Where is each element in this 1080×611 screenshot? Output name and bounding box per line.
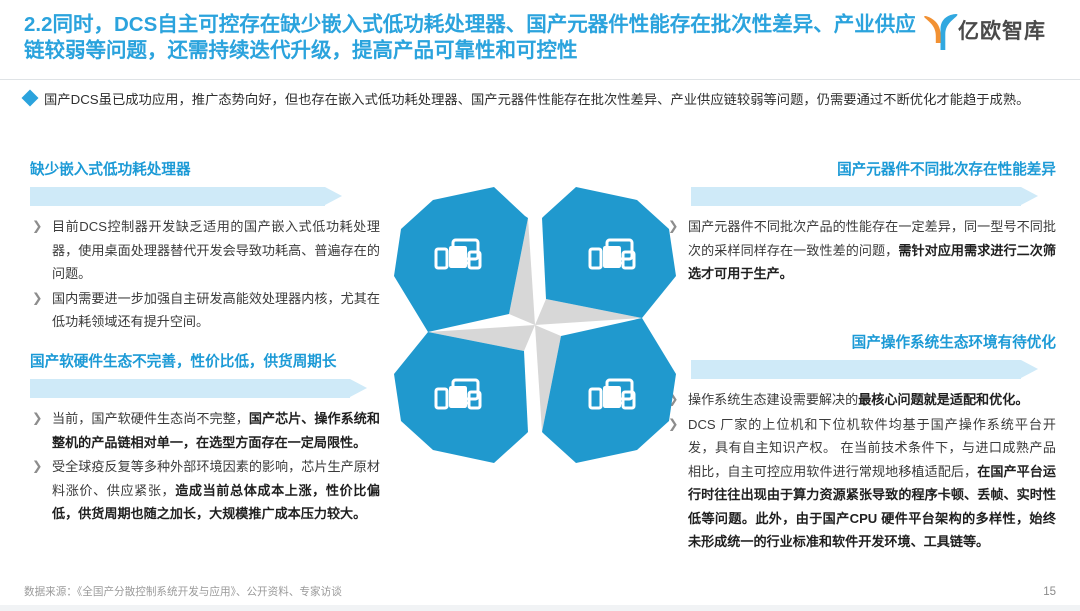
- page-number: 15: [1043, 585, 1056, 599]
- bullet-item: ❯当前，国产软硬件生态尚不完整，国产芯片、操作系统和整机的产品链相对单一，在选型…: [30, 407, 380, 454]
- header-divider: [0, 79, 1080, 80]
- bullet-item: ❯DCS 厂家的上位机和下位机软件均基于国产操作系统平台开发，具有自主知识产权。…: [666, 413, 1056, 554]
- section-heading: 国产操作系统生态环境有待优化: [666, 333, 1056, 353]
- section-heading: 国产元器件不同批次存在性能差异: [666, 160, 1056, 180]
- bullet-item: ❯国内需要进一步加强自主研发高能效处理器内核，尤其在低功耗领域还有提升空间。: [30, 287, 380, 334]
- chevron-bullet-icon: ❯: [32, 215, 42, 239]
- section-bottom-right: 国产操作系统生态环境有待优化 ❯操作系统生态建设需要解决的最核心问题就是适配和优…: [666, 333, 1056, 555]
- intro-text: 国产DCS虽已成功应用，推广态势向好，但也存在嵌入式低功耗处理器、国产元器件性能…: [44, 88, 1054, 111]
- bullet-text: 国内需要进一步加强自主研发高能效处理器内核，尤其在低功耗领域还有提升空间。: [52, 291, 380, 330]
- section-heading: 缺少嵌入式低功耗处理器: [30, 160, 380, 180]
- bullet-text: 目前DCS控制器开发缺乏适用的国产嵌入式低功耗处理器，使用桌面处理器替代开发会导…: [52, 219, 380, 281]
- section-top-left: 缺少嵌入式低功耗处理器 ❯目前DCS控制器开发缺乏适用的国产嵌入式低功耗处理器，…: [30, 160, 380, 335]
- page-title: 2.2同时，DCS自主可控存在缺少嵌入式低功耗处理器、国产元器件性能存在批次性差…: [24, 12, 924, 64]
- chevron-bullet-icon: ❯: [32, 287, 42, 311]
- bullet-text: 国产元器件不同批次产品的性能存在一定差异，同一型号不同批次的采样同样存在一致性差…: [688, 219, 1056, 281]
- slide-root: 2.2同时，DCS自主可控存在缺少嵌入式低功耗处理器、国产元器件性能存在批次性差…: [0, 0, 1080, 611]
- pinwheel-svg: [392, 182, 678, 468]
- bullet-list: ❯操作系统生态建设需要解决的最核心问题就是适配和优化。❯DCS 厂家的上位机和下…: [666, 388, 1056, 554]
- bullet-list: ❯当前，国产软硬件生态尚不完整，国产芯片、操作系统和整机的产品链相对单一，在选型…: [30, 407, 380, 526]
- bullet-item: ❯操作系统生态建设需要解决的最核心问题就是适配和优化。: [666, 388, 1056, 412]
- bullet-list: ❯国产元器件不同批次产品的性能存在一定差异，同一型号不同批次的采样同样存在一致性…: [666, 215, 1056, 286]
- arrow-bar: [666, 187, 1056, 206]
- section-heading: 国产软硬件生态不完善，性价比低，供货周期长: [30, 352, 380, 372]
- bullet-text: 受全球疫反复等多种外部环境因素的影响，芯片生产原材料涨价、供应紧张，造成当前总体…: [52, 459, 380, 521]
- footer-bar: [0, 605, 1080, 611]
- section-bottom-left: 国产软硬件生态不完善，性价比低，供货周期长 ❯当前，国产软硬件生态尚不完整，国产…: [30, 352, 380, 527]
- brand-logo: 亿欧智库: [924, 10, 1064, 56]
- pinwheel-diagram: [392, 182, 678, 468]
- chevron-bullet-icon: ❯: [32, 455, 42, 479]
- sprout-y-logo-icon: [924, 13, 958, 51]
- intro-paragraph: 国产DCS虽已成功应用，推广态势向好，但也存在嵌入式低功耗处理器、国产元器件性能…: [24, 88, 1054, 111]
- bullet-list: ❯目前DCS控制器开发缺乏适用的国产嵌入式低功耗处理器，使用桌面处理器替代开发会…: [30, 215, 380, 334]
- bullet-text: DCS 厂家的上位机和下位机软件均基于国产操作系统平台开发，具有自主知识产权。 …: [688, 417, 1056, 550]
- source-note: 数据来源：《全国产分散控制系统开发与应用》、公开资料、专家访谈: [24, 585, 342, 599]
- chevron-bullet-icon: ❯: [32, 407, 42, 431]
- arrow-bar: [666, 360, 1056, 379]
- diamond-bullet-icon: [22, 90, 39, 107]
- section-top-right: 国产元器件不同批次存在性能差异 ❯国产元器件不同批次产品的性能存在一定差异，同一…: [666, 160, 1056, 287]
- bullet-text: 操作系统生态建设需要解决的最核心问题就是适配和优化。: [688, 392, 1028, 407]
- arrow-bar: [30, 187, 380, 206]
- bullet-item: ❯目前DCS控制器开发缺乏适用的国产嵌入式低功耗处理器，使用桌面处理器替代开发会…: [30, 215, 380, 286]
- brand-logo-text: 亿欧智库: [958, 19, 1046, 45]
- bullet-item: ❯受全球疫反复等多种外部环境因素的影响，芯片生产原材料涨价、供应紧张，造成当前总…: [30, 455, 380, 526]
- slide-header: 2.2同时，DCS自主可控存在缺少嵌入式低功耗处理器、国产元器件性能存在批次性差…: [0, 0, 1080, 78]
- bullet-text: 当前，国产软硬件生态尚不完整，国产芯片、操作系统和整机的产品链相对单一，在选型方…: [52, 411, 380, 450]
- bullet-item: ❯国产元器件不同批次产品的性能存在一定差异，同一型号不同批次的采样同样存在一致性…: [666, 215, 1056, 286]
- arrow-bar: [30, 379, 380, 398]
